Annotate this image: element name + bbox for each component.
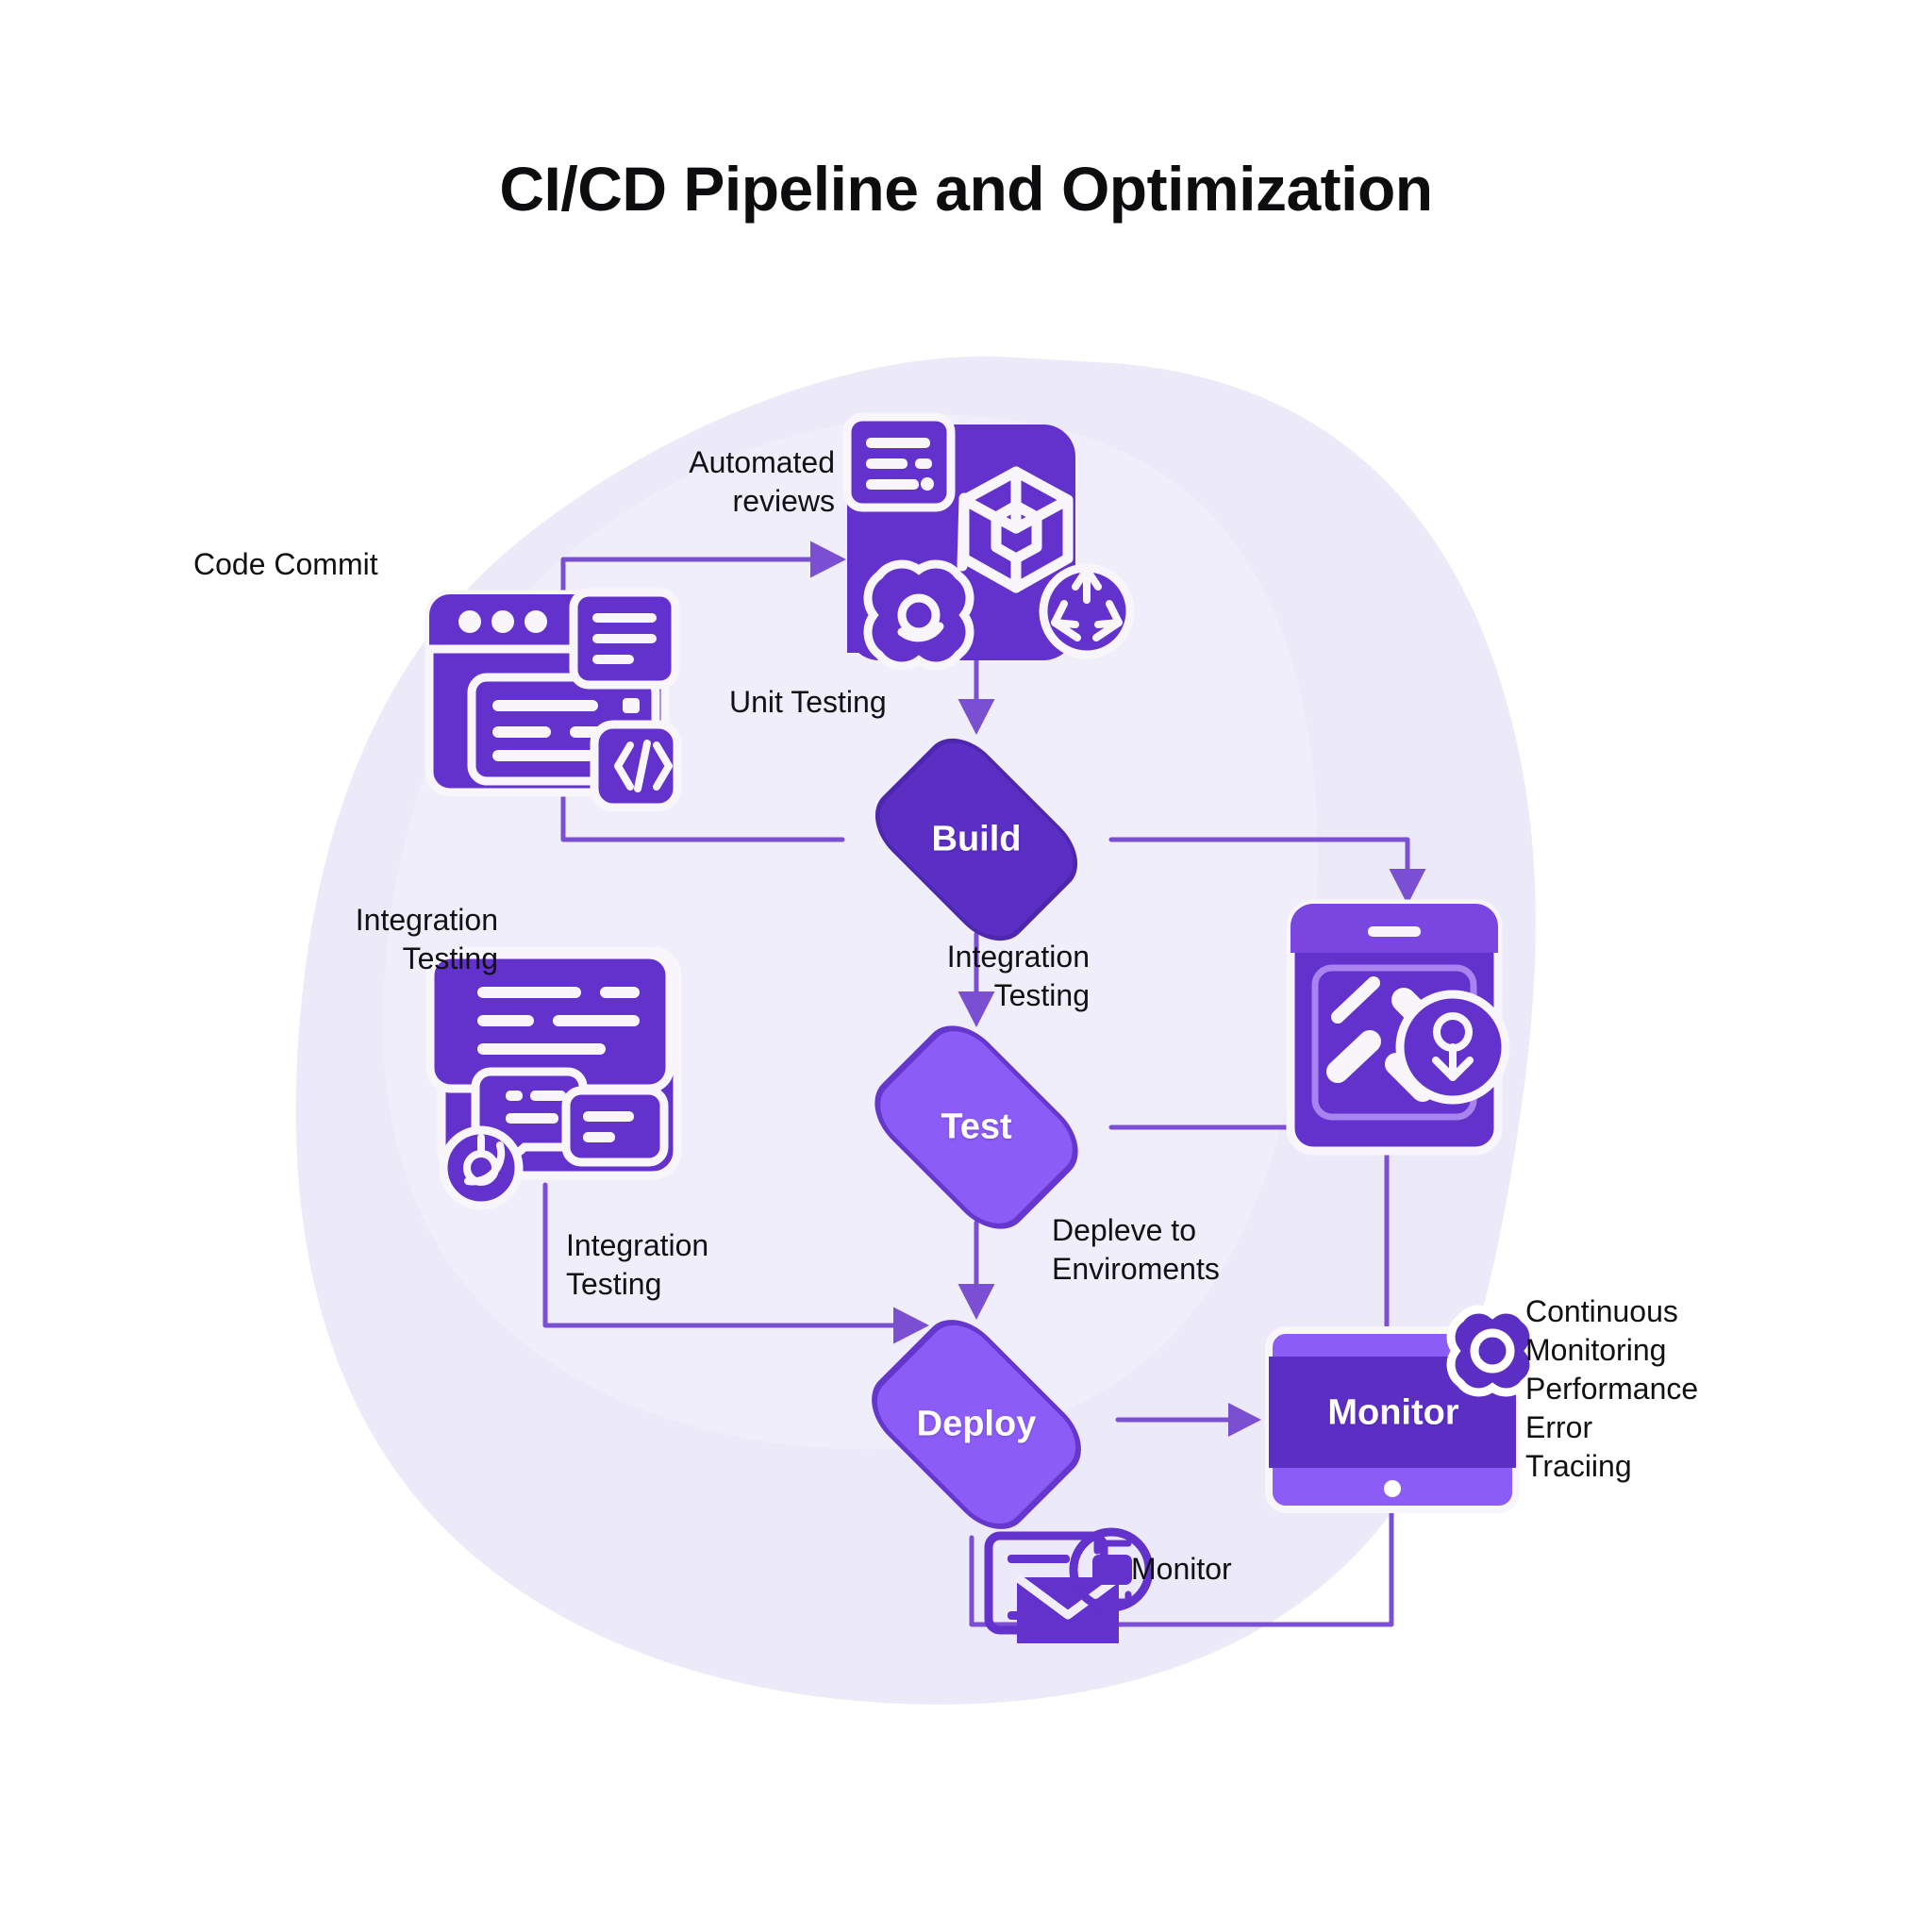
label-depleve-to-enviroments: Depleve to Enviroments: [1052, 1211, 1220, 1289]
recycle-icon: [1043, 568, 1130, 655]
node-label-deploy: Deploy: [917, 1405, 1037, 1445]
label-code-commit: Code Commit: [193, 545, 378, 584]
code-commit-illustration: [429, 592, 677, 808]
tablet-test-illustration: [1291, 904, 1506, 1151]
label-monitor-caption: Monitor: [1131, 1550, 1232, 1589]
label-continuous-monitoring: Continuous Monitoring Performance Error …: [1525, 1292, 1698, 1486]
label-integration-testing-left: Integration Testing: [253, 901, 498, 978]
page-title: CI/CD Pipeline and Optimization: [0, 153, 1932, 225]
node-label-build: Build: [932, 820, 1022, 860]
node-label-monitor: Monitor: [1327, 1393, 1458, 1434]
diagram-canvas: CI/CD Pipeline and Optimization Build Te…: [0, 0, 1932, 1932]
label-automated-reviews: Automated reviews: [552, 443, 835, 521]
flower-gear-icon: [868, 564, 970, 666]
label-unit-testing: Unit Testing: [729, 683, 887, 722]
label-integration-testing-right: Integration Testing: [830, 938, 1090, 1015]
node-label-test: Test: [941, 1108, 1011, 1148]
label-integration-testing-mid: Integration Testing: [566, 1226, 708, 1304]
gear-icon: [1451, 1309, 1534, 1392]
integration-chat-illustration: [430, 951, 677, 1206]
